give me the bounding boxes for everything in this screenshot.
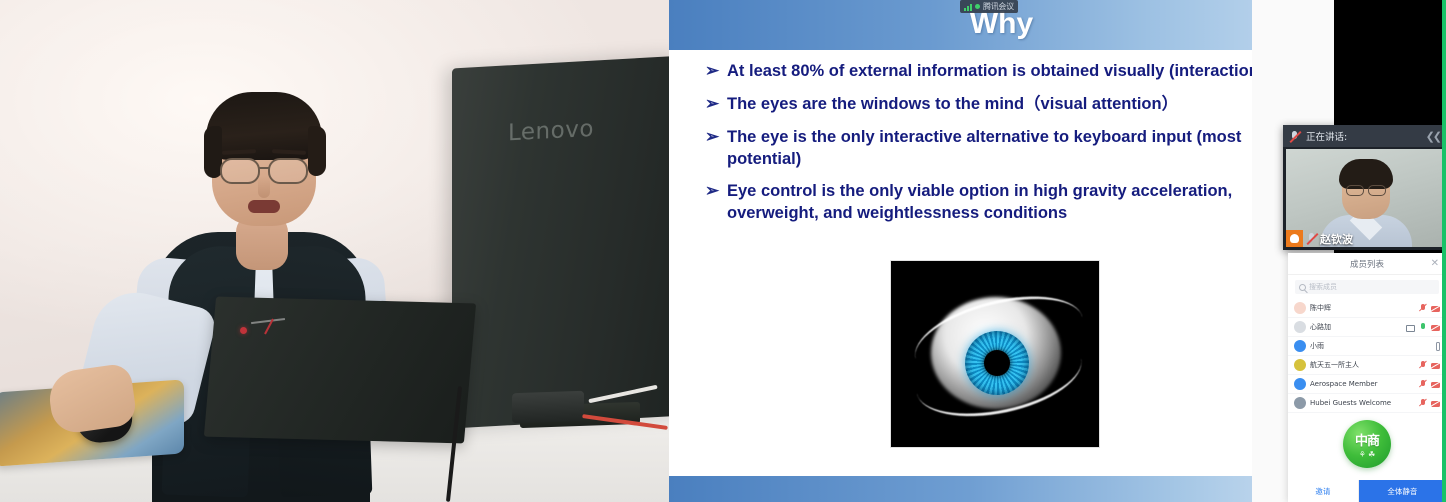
speaker-status-bar: 正在讲话: ❮❮ <box>1283 125 1446 147</box>
presenter-mouth <box>248 200 280 213</box>
list-item: ➢ The eyes are the windows to the mind（v… <box>705 93 1305 116</box>
glasses-left-lens <box>220 158 260 184</box>
external-monitor <box>452 56 669 429</box>
participant-name: Aerospace Member <box>1310 380 1415 388</box>
shared-slide[interactable]: Why ➢ At least 80% of external informati… <box>669 0 1334 502</box>
list-item[interactable]: 心路加 <box>1288 318 1446 337</box>
close-icon[interactable]: ✕ <box>1431 258 1439 269</box>
meeting-watermark: 腾讯会议 <box>960 0 1018 13</box>
blue-eye-image <box>890 260 1100 448</box>
bullet-text: At least 80% of external information is … <box>727 60 1264 82</box>
bullet-marker-icon: ➢ <box>705 126 727 149</box>
phone-icon <box>1436 342 1440 351</box>
list-item[interactable]: Hubei Guests Welcome <box>1288 394 1446 413</box>
mic-muted-icon <box>1419 380 1427 388</box>
participant-status-icons <box>1419 399 1440 407</box>
mic-muted-icon <box>1419 399 1427 407</box>
avatar <box>1294 302 1306 314</box>
speaker-glasses-left <box>1346 185 1364 196</box>
laptop <box>204 297 476 444</box>
participants-header: 成员列表 ✕ <box>1288 253 1446 275</box>
list-item: ➢ The eye is the only interactive altern… <box>705 126 1305 170</box>
participant-status-icons <box>1406 323 1440 331</box>
share-screen-icon <box>1406 325 1415 332</box>
camera-muted-icon <box>1431 363 1440 369</box>
avatar <box>1294 397 1306 409</box>
speaker-status-label: 正在讲话: <box>1306 129 1347 143</box>
participant-status-icons <box>1419 361 1440 369</box>
slide-footer-bar <box>669 476 1334 502</box>
bullet-marker-icon: ➢ <box>705 180 727 203</box>
logo-subtext: ⚘ ☘ <box>1359 450 1376 459</box>
speaker-name-row: 赵钦波 <box>1286 230 1353 247</box>
mic-muted-icon <box>1419 304 1427 312</box>
participants-title: 成员列表 <box>1350 258 1384 270</box>
bullet-marker-icon: ➢ <box>705 60 727 83</box>
monitor-brand-label: Lenovo <box>508 116 598 151</box>
participants-panel[interactable]: 成员列表 ✕ 搜索成员 陈中辉 心路加 小雨 <box>1288 253 1446 502</box>
camera-muted-icon <box>1431 401 1440 407</box>
avatar <box>1294 359 1306 371</box>
list-item[interactable]: Aerospace Member <box>1288 375 1446 394</box>
participant-name: 小雨 <box>1310 341 1432 351</box>
meeting-logo: 中商 ⚘ ☘ <box>1288 413 1446 472</box>
invite-button[interactable]: 邀请 <box>1288 480 1359 502</box>
speaker-name-label: 赵钦波 <box>1320 231 1353 247</box>
app-name-label: 腾讯会议 <box>983 1 1014 12</box>
avatar <box>1294 378 1306 390</box>
screen-share-border <box>1442 0 1446 502</box>
camera-muted-icon <box>1431 325 1440 331</box>
participant-status-icons <box>1419 380 1440 388</box>
usb-dock <box>512 391 584 424</box>
empty-video-pane <box>1334 0 1442 126</box>
participant-status-icons <box>1419 304 1440 312</box>
list-item[interactable]: 航天五一所主人 <box>1288 356 1446 375</box>
speaker-hair <box>1339 159 1393 189</box>
mic-on-icon <box>1419 323 1427 331</box>
participant-status-icons <box>1436 342 1440 351</box>
participant-name: 心路加 <box>1310 322 1402 332</box>
hair-right-side <box>308 126 326 176</box>
mic-muted-icon <box>1306 232 1317 245</box>
search-placeholder: 搜索成员 <box>1309 282 1337 292</box>
list-item: ➢ Eye control is the only viable option … <box>705 180 1305 224</box>
bullet-text: The eyes are the windows to the mind（vis… <box>727 93 1178 115</box>
list-item[interactable]: 小雨 <box>1288 337 1446 356</box>
glasses-bridge <box>259 167 269 169</box>
participant-name: Hubei Guests Welcome <box>1310 399 1415 407</box>
list-item[interactable]: 陈中辉 <box>1288 299 1446 318</box>
list-item: ➢ At least 80% of external information i… <box>705 60 1305 83</box>
logo-text: 中商 <box>1355 430 1379 449</box>
avatar <box>1294 340 1306 352</box>
bullet-text: The eye is the only interactive alternat… <box>727 126 1305 170</box>
active-speaker-thumbnail[interactable]: 正在讲话: ❮❮ 赵钦波 <box>1283 125 1446 250</box>
camera-muted-icon <box>1431 382 1440 388</box>
chevron-collapse-icon[interactable]: ❮❮ <box>1426 130 1440 143</box>
presenter-nose <box>258 176 270 198</box>
meeting-screen: Lenovo Why <box>0 0 1446 502</box>
mic-muted-icon <box>1289 130 1300 143</box>
participants-actions: 邀请 全体静音 <box>1288 480 1446 502</box>
logo-circle: 中商 ⚘ ☘ <box>1343 420 1391 468</box>
mic-muted-icon <box>1419 361 1427 369</box>
participant-name: 航天五一所主人 <box>1310 360 1415 370</box>
participant-name: 陈中辉 <box>1310 303 1415 313</box>
search-input[interactable]: 搜索成员 <box>1295 280 1439 294</box>
glasses-right-lens <box>268 158 308 184</box>
search-icon <box>1299 284 1306 291</box>
signal-bars-icon <box>964 3 972 11</box>
avatar <box>1294 321 1306 333</box>
bullet-text: Eye control is the only viable option in… <box>727 180 1305 224</box>
mute-all-button[interactable]: 全体静音 <box>1359 480 1446 502</box>
bullet-marker-icon: ➢ <box>705 93 727 116</box>
slide-bullet-list: ➢ At least 80% of external information i… <box>705 60 1305 234</box>
speaker-glasses-right <box>1368 185 1386 196</box>
laptop-logo-dot <box>240 327 247 334</box>
presenter-camera-feed[interactable]: Lenovo <box>0 0 669 502</box>
host-badge-icon <box>1286 230 1303 247</box>
camera-muted-icon <box>1431 306 1440 312</box>
status-dot-icon <box>975 4 980 9</box>
